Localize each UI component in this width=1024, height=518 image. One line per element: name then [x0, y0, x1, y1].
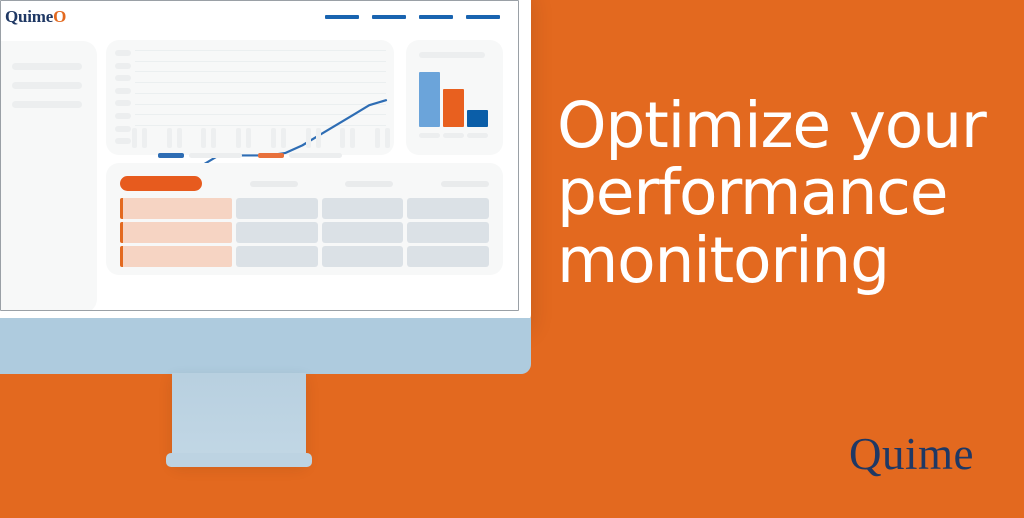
line-chart-plot — [135, 50, 386, 125]
bar-chart-bars — [419, 72, 488, 127]
app-logo-word: Quime — [5, 7, 53, 26]
line-chart-x-axis — [132, 128, 390, 148]
bar-chart-labels — [419, 133, 488, 138]
bar-chart-title-placeholder — [419, 52, 485, 58]
sidebar — [1, 41, 97, 311]
x-tick-pair — [236, 128, 251, 148]
table-cell — [322, 246, 404, 267]
bar-label-2 — [443, 133, 464, 138]
table-cell — [322, 198, 404, 219]
table-header-4[interactable] — [441, 181, 489, 187]
app-header: QuimeO — [1, 1, 518, 36]
data-table-card — [106, 163, 503, 275]
table-cell-highlight — [120, 198, 232, 219]
legend-item-series-orange[interactable] — [258, 153, 342, 158]
table-row[interactable] — [120, 246, 489, 267]
page-title: Optimize your performance monitoring — [557, 92, 1009, 294]
bar-3 — [467, 110, 488, 127]
nav-item-3[interactable] — [419, 15, 453, 19]
monitor-bottom-bezel — [0, 318, 531, 374]
monitor-stand-foot — [166, 453, 312, 467]
table-header-active[interactable] — [120, 176, 202, 191]
sidebar-item-2[interactable] — [12, 82, 82, 89]
header-nav — [325, 15, 500, 19]
table-header-2[interactable] — [250, 181, 298, 187]
x-tick-pair — [167, 128, 182, 148]
line-chart-card — [106, 40, 394, 155]
table-header-row — [120, 176, 489, 191]
table-cell — [236, 222, 318, 243]
table-cell-highlight — [120, 246, 232, 267]
desktop-monitor: QuimeO — [0, 0, 531, 390]
line-chart-legend — [106, 153, 394, 158]
sidebar-item-3[interactable] — [12, 101, 82, 108]
brand-logo: Quime — [849, 428, 974, 480]
nav-item-4[interactable] — [466, 15, 500, 19]
table-header-3[interactable] — [345, 181, 393, 187]
bar-1 — [419, 72, 440, 127]
y-tick — [115, 63, 131, 69]
bar-2 — [443, 89, 464, 127]
x-tick-pair — [375, 128, 390, 148]
table-cell — [407, 246, 489, 267]
x-tick-pair — [340, 128, 355, 148]
app-logo[interactable]: QuimeO — [5, 7, 66, 27]
y-tick — [115, 88, 131, 94]
y-tick — [115, 50, 131, 56]
nav-item-2[interactable] — [372, 15, 406, 19]
monitor-screen: QuimeO — [0, 0, 519, 311]
x-tick-pair — [132, 128, 147, 148]
table-cell — [322, 222, 404, 243]
line-chart-y-axis — [115, 50, 131, 151]
bar-label-1 — [419, 133, 440, 138]
x-tick-pair — [201, 128, 216, 148]
y-tick — [115, 113, 131, 119]
table-cell — [236, 198, 318, 219]
table-cell — [236, 246, 318, 267]
table-row[interactable] — [120, 222, 489, 243]
sidebar-item-1[interactable] — [12, 63, 82, 70]
table-body — [120, 198, 489, 270]
legend-item-series-blue[interactable] — [158, 153, 242, 158]
bar-chart-card — [406, 40, 503, 155]
table-cell-highlight — [120, 222, 232, 243]
dashboard-content — [103, 35, 508, 310]
legend-label-orange — [289, 153, 342, 158]
y-tick — [115, 138, 131, 144]
bar-label-3 — [467, 133, 488, 138]
legend-swatch-orange — [258, 153, 284, 158]
table-cell — [407, 222, 489, 243]
legend-swatch-blue — [158, 153, 184, 158]
y-tick — [115, 126, 131, 132]
monitor-frame: QuimeO — [0, 0, 531, 325]
x-tick-pair — [306, 128, 321, 148]
table-cell — [407, 198, 489, 219]
y-tick — [115, 75, 131, 81]
table-row[interactable] — [120, 198, 489, 219]
y-tick — [115, 100, 131, 106]
promo-banner: QuimeO — [0, 0, 1024, 518]
x-tick-pair — [271, 128, 286, 148]
monitor-stand-neck — [172, 373, 306, 463]
legend-label-blue — [189, 153, 242, 158]
nav-item-1[interactable] — [325, 15, 359, 19]
app-logo-mark: O — [53, 7, 66, 26]
app-body — [1, 35, 518, 310]
